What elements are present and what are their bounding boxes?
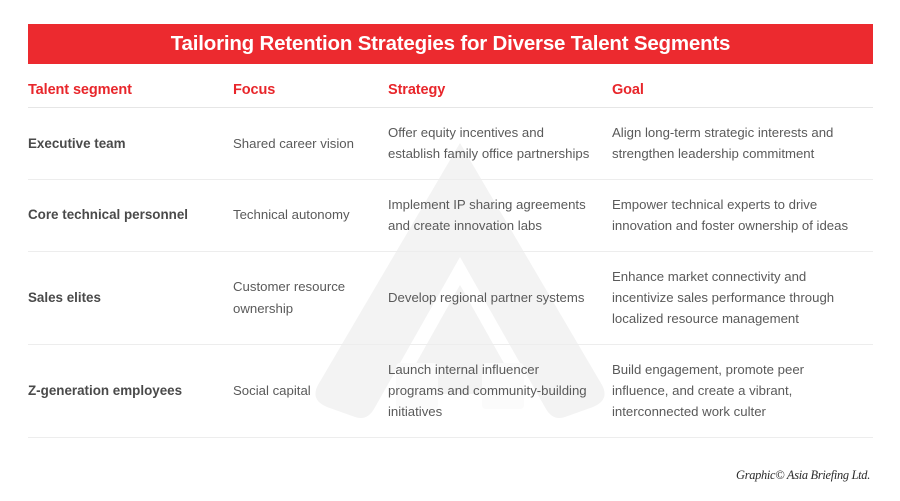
- footer-credit: Graphic© Asia Briefing Ltd.: [736, 466, 870, 484]
- cell-strategy: Develop regional partner systems: [388, 287, 612, 308]
- cell-focus: Customer resource ownership: [233, 276, 388, 319]
- cell-talent-segment: Z-generation employees: [28, 380, 233, 402]
- table-row: Core technical personnel Technical auton…: [28, 180, 873, 252]
- cell-strategy: Implement IP sharing agreements and crea…: [388, 194, 612, 237]
- cell-focus: Shared career vision: [233, 133, 388, 154]
- cell-goal: Empower technical experts to drive innov…: [612, 194, 873, 237]
- credit-text: Graphic© Asia Briefing Ltd.: [736, 468, 870, 482]
- column-header-goal: Goal: [612, 83, 873, 99]
- table-row: Sales elites Customer resource ownership…: [28, 252, 873, 345]
- cell-goal: Align long-term strategic interests and …: [612, 122, 873, 165]
- column-header-focus: Focus: [233, 83, 388, 99]
- cell-talent-segment: Core technical personnel: [28, 204, 233, 226]
- column-header-talent-segment: Talent segment: [28, 83, 233, 99]
- page-title: Tailoring Retention Strategies for Diver…: [171, 34, 731, 55]
- data-table: Talent segment Focus Strategy Goal Execu…: [28, 74, 873, 438]
- infographic-table: Tailoring Retention Strategies for Diver…: [0, 0, 900, 501]
- table-row: Executive team Shared career vision Offe…: [28, 108, 873, 180]
- cell-goal: Enhance market connectivity and incentiv…: [612, 266, 873, 330]
- cell-focus: Technical autonomy: [233, 204, 388, 225]
- cell-goal: Build engagement, promote peer influence…: [612, 359, 873, 423]
- table-header-row: Talent segment Focus Strategy Goal: [28, 74, 873, 108]
- table-row: Z-generation employees Social capital La…: [28, 345, 873, 438]
- cell-talent-segment: Sales elites: [28, 287, 233, 309]
- title-bar: Tailoring Retention Strategies for Diver…: [28, 24, 873, 64]
- cell-focus: Social capital: [233, 380, 388, 401]
- cell-strategy: Launch internal influencer programs and …: [388, 359, 612, 423]
- column-header-strategy: Strategy: [388, 83, 612, 99]
- cell-strategy: Offer equity incentives and establish fa…: [388, 122, 612, 165]
- cell-talent-segment: Executive team: [28, 133, 233, 155]
